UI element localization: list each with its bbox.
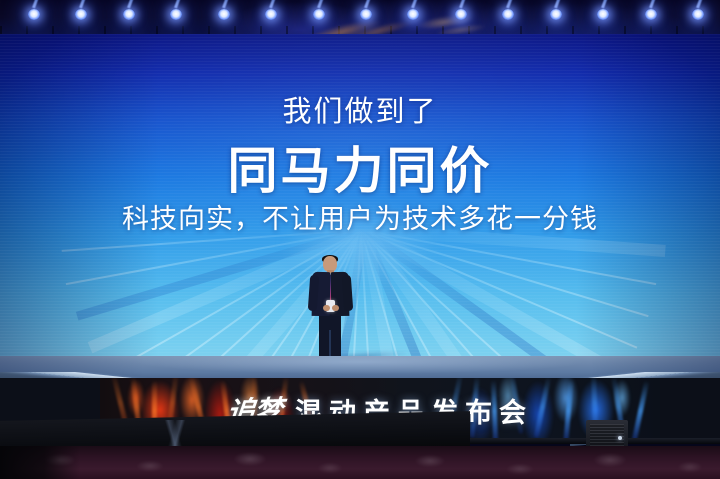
stage-photograph: 我们做到了 同马力同价 科技向实，不让用户为技术多花一分钱 bbox=[0, 0, 720, 479]
carpet-left-shadow bbox=[0, 446, 80, 479]
screen-kicker: 我们做到了 bbox=[0, 98, 720, 127]
spotlight-6 bbox=[313, 9, 325, 20]
spotlight-4 bbox=[218, 9, 230, 20]
spotlight-2 bbox=[123, 9, 135, 20]
spotlight-0 bbox=[28, 9, 40, 20]
spotlight-7 bbox=[360, 9, 372, 20]
screen-headline: 同马力同价 bbox=[0, 146, 720, 196]
carpet-pattern bbox=[0, 446, 720, 479]
monitor-indicator-led-icon bbox=[618, 436, 622, 440]
screen-text-block: 我们做到了 同马力同价 科技向实，不让用户为技术多花一分钱 bbox=[0, 34, 720, 360]
spotlight-11 bbox=[550, 9, 562, 20]
spotlight-14 bbox=[692, 9, 704, 20]
presenter-hand-left bbox=[323, 305, 330, 311]
spotlight-13 bbox=[645, 9, 657, 20]
screen-subline: 科技向实，不让用户为技术多花一分钱 bbox=[0, 206, 720, 233]
presenter-hand-right bbox=[332, 305, 339, 311]
presenter-figure bbox=[306, 256, 354, 364]
spotlight-9 bbox=[455, 9, 467, 20]
presenter-arm-right bbox=[342, 275, 353, 312]
stage-apron-bracing bbox=[10, 420, 340, 446]
